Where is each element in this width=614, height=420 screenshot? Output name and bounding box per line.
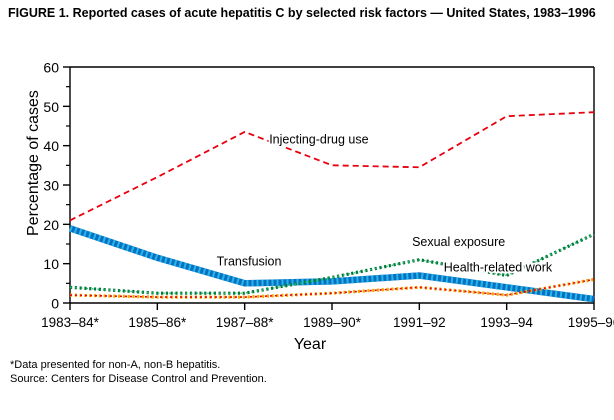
y-tick-label: 40 — [43, 138, 59, 154]
series-label-injecting-drug-use: Injecting-drug use — [269, 133, 368, 147]
y-axis-title: Percentage of cases — [25, 43, 43, 283]
y-tick-label: 0 — [51, 296, 59, 312]
line-chart: 0102030405060 Injecting-drug useTransfus… — [0, 58, 614, 358]
footnotes: *Data presented for non-A, non-B hepatit… — [10, 358, 490, 386]
series-label-health-related-work: Health-related work — [444, 261, 553, 275]
series-label-transfusion: Transfusion — [217, 255, 282, 269]
y-tick-label: 20 — [43, 217, 59, 233]
page-title: FIGURE 1. Reported cases of acute hepati… — [8, 6, 608, 21]
x-tick-label: 1983–84* — [41, 315, 100, 330]
x-tick-label: 1991–92 — [393, 315, 446, 330]
y-tick-label: 60 — [43, 60, 59, 76]
y-tick-label: 10 — [43, 256, 59, 272]
x-tick-label: 1993–94 — [480, 315, 533, 330]
x-axis-ticks — [70, 303, 594, 310]
footnote-source: Source: Centers for Disease Control and … — [10, 372, 490, 386]
x-tick-label: 1985–86* — [128, 315, 187, 330]
chart-container: Percentage of cases Year 0102030405060 I… — [0, 58, 614, 358]
series-injecting-drug-use — [70, 112, 594, 220]
x-tick-label: 1989–90* — [303, 315, 362, 330]
x-tick-label: 1987–88* — [216, 315, 275, 330]
series-annotations: Injecting-drug useTransfusionSexual expo… — [217, 133, 553, 275]
y-tick-label: 30 — [43, 178, 59, 194]
y-tick-label: 50 — [43, 99, 59, 115]
x-axis-title: Year — [60, 336, 560, 354]
series-label-sexual-exposure: Sexual exposure — [412, 235, 505, 249]
footnote-data-note: *Data presented for non-A, non-B hepatit… — [10, 358, 490, 372]
x-axis-tick-labels: 1983–84*1985–86*1987–88*1989–90*1991–921… — [41, 315, 614, 330]
y-axis-ticks: 0102030405060 — [43, 60, 70, 312]
x-tick-label: 1995–96 — [568, 315, 614, 330]
